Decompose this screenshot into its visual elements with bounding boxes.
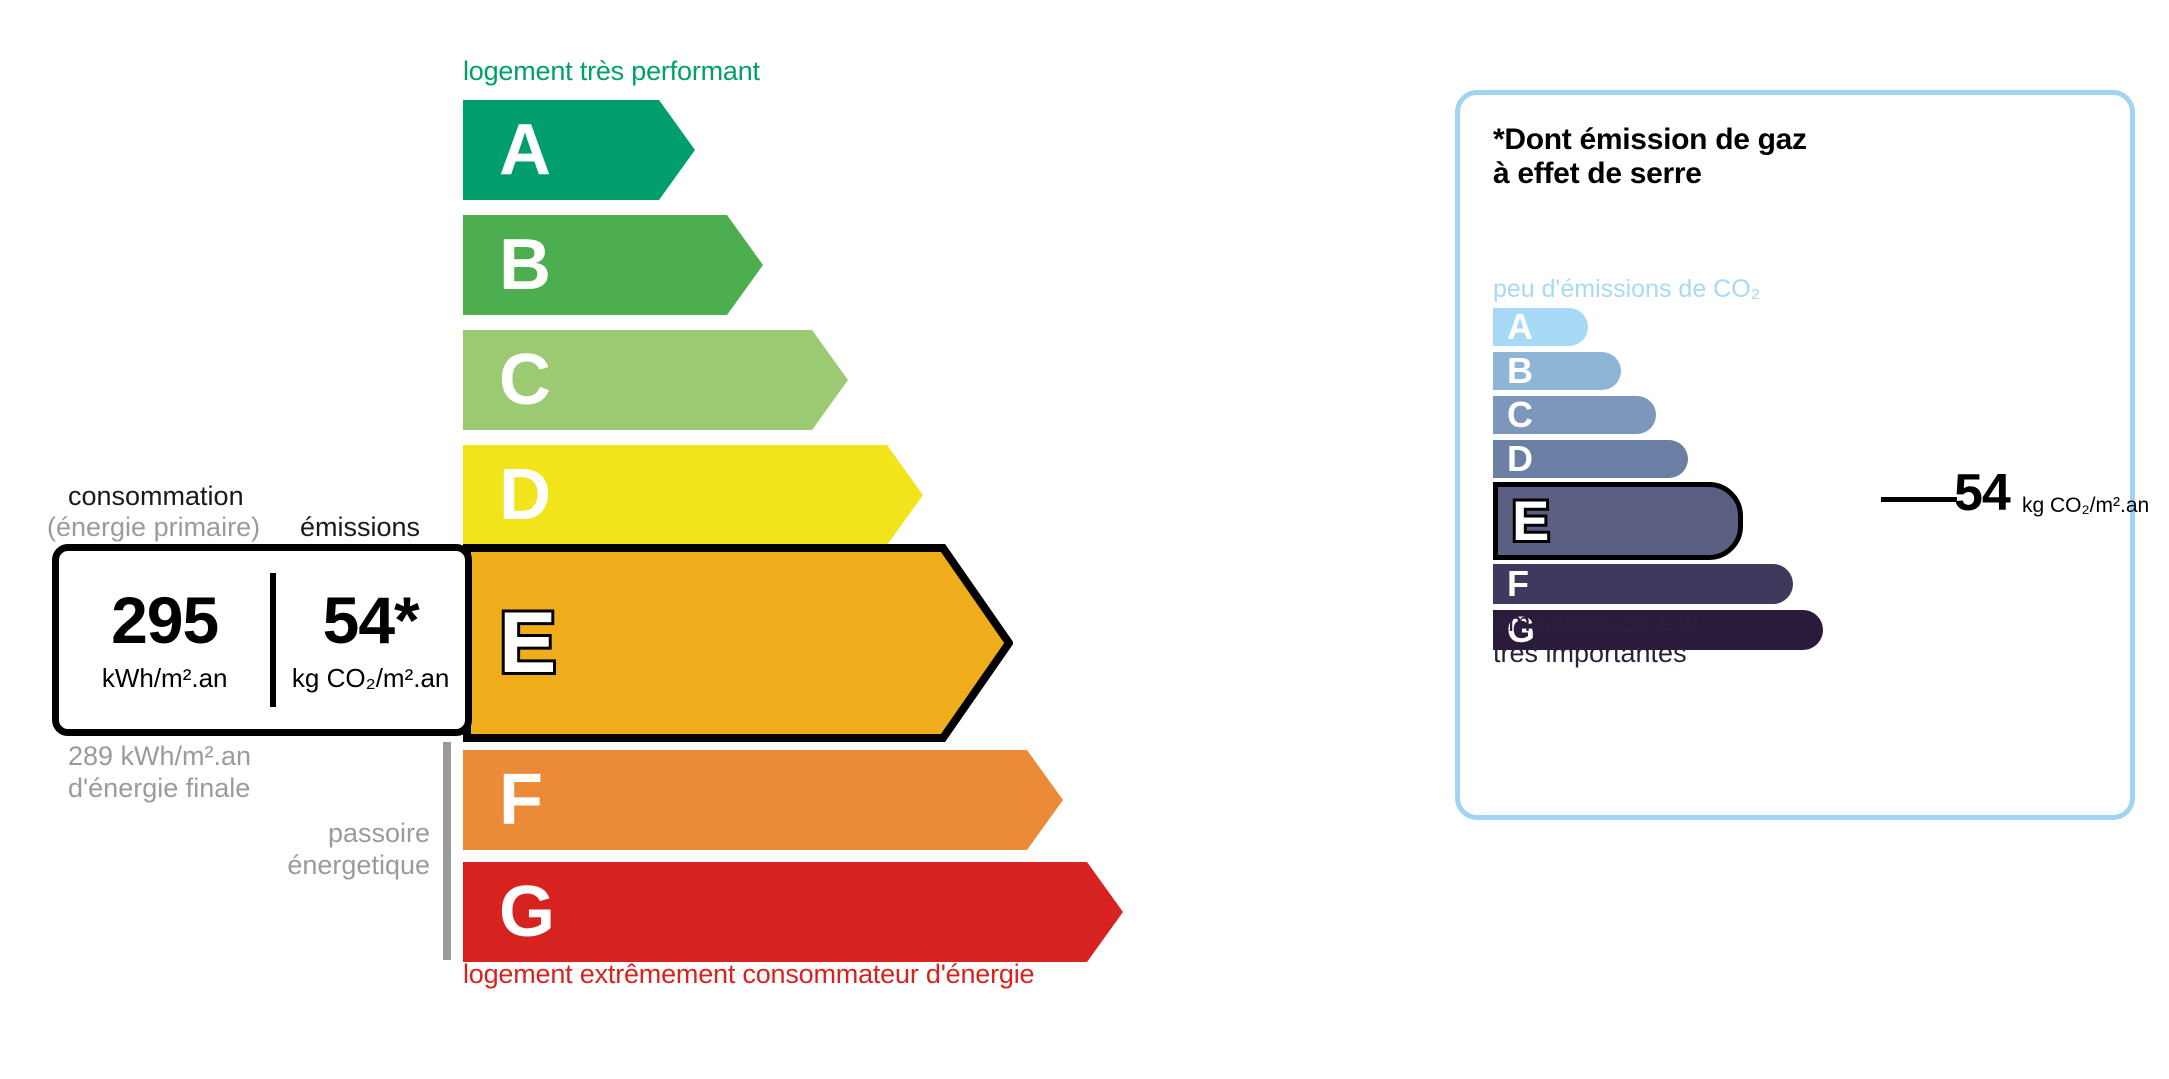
scale-top-caption: logement très performant	[463, 56, 760, 87]
co2-letter-b: B	[1507, 353, 1533, 389]
band-letter-b: B	[499, 229, 551, 301]
energy-band-a[interactable]: A	[463, 100, 695, 200]
consumption-value-cell: 295 kWh/m².an	[59, 551, 270, 729]
co2-letter-f: F	[1507, 566, 1529, 602]
energy-band-g[interactable]: G	[463, 862, 1123, 962]
final-energy-note: 289 kWh/m².an d'énergie finale	[68, 741, 251, 805]
label-emissions: émissions	[300, 512, 420, 543]
value-box: 295 kWh/m².an 54* kg CO₂/m².an	[52, 544, 472, 736]
emission-value-cell: 54* kg CO₂/m².an	[276, 551, 465, 729]
label-energie-primaire: (énergie primaire)	[47, 512, 260, 543]
energy-band-c[interactable]: C	[463, 330, 848, 430]
band-letter-c: C	[499, 344, 551, 416]
co2-letter-c: C	[1507, 397, 1533, 433]
energy-band-e[interactable]: E	[463, 544, 1013, 742]
co2-callout-value: 54	[1954, 467, 2010, 519]
co2-bar-c[interactable]: C	[1493, 396, 1656, 434]
scale-bottom-caption: logement extrêmement consommateur d'éner…	[463, 959, 1034, 990]
emission-value: 54*	[323, 587, 419, 653]
co2-bar-b[interactable]: B	[1493, 352, 1621, 390]
band-arrow-shape-f	[463, 750, 1063, 850]
band-letter-g: G	[499, 876, 555, 948]
band-letter-f: F	[499, 764, 543, 836]
passoire-bracket	[443, 742, 451, 960]
co2-bar-e[interactable]: E	[1493, 482, 1743, 560]
energy-band-b[interactable]: B	[463, 215, 763, 315]
band-arrow-shape-g	[463, 862, 1123, 962]
co2-callout-leader-line	[1881, 497, 1957, 502]
co2-bar-d[interactable]: D	[1493, 440, 1688, 478]
co2-bar-f[interactable]: F	[1493, 564, 1793, 604]
passoire-energetique-note: passoire énergetique	[200, 818, 430, 882]
consumption-value: 295	[111, 587, 218, 653]
consumption-unit: kWh/m².an	[102, 663, 228, 694]
co2-letter-d: D	[1507, 441, 1533, 477]
co2-callout-unit: kg CO₂/m².an	[2022, 494, 2149, 518]
energy-band-f[interactable]: F	[463, 750, 1063, 850]
co2-bottom-caption: émissions de CO₂ très importantes	[1493, 607, 1709, 669]
co2-bar-list: A B C D E F G	[1493, 308, 1893, 598]
co2-panel-title: *Dont émission de gaz à effet de serre	[1493, 123, 1807, 191]
band-letter-a: A	[499, 114, 551, 186]
band-letter-d: D	[499, 459, 551, 531]
co2-bar-a[interactable]: A	[1493, 308, 1588, 346]
co2-emission-panel: *Dont émission de gaz à effet de serre p…	[1455, 90, 2135, 820]
energy-band-list: A B C D E	[463, 100, 1363, 950]
co2-top-caption: peu d'émissions de CO₂	[1493, 275, 1760, 304]
co2-letter-e: E	[1512, 493, 1549, 549]
energy-band-d[interactable]: D	[463, 445, 923, 545]
band-arrow-shape-a	[463, 100, 695, 200]
emission-unit: kg CO₂/m².an	[292, 663, 449, 694]
energy-scale-panel: logement très performant A B C	[0, 0, 1400, 1079]
label-consommation: consommation	[68, 481, 244, 512]
co2-letter-a: A	[1507, 309, 1533, 345]
band-letter-e: E	[499, 600, 556, 686]
